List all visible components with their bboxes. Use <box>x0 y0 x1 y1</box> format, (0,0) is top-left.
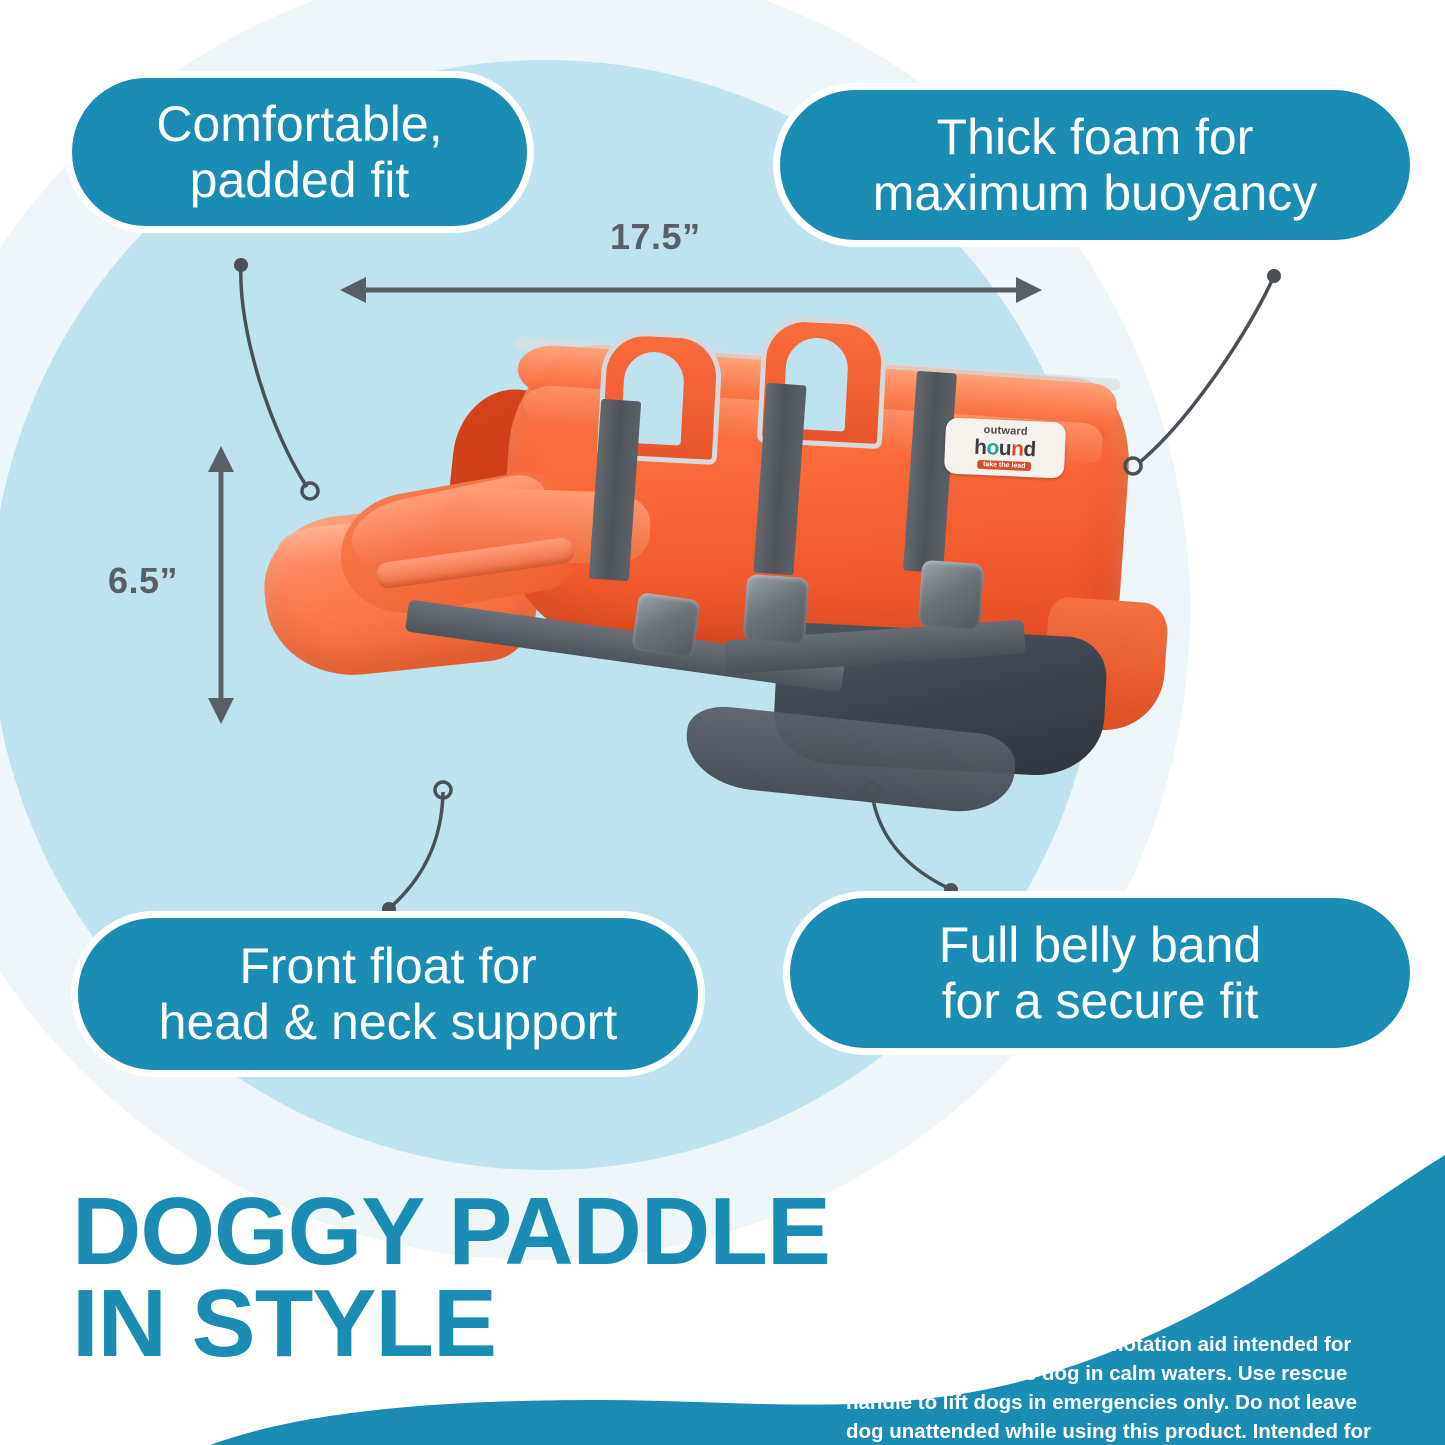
callout-comfort-line2: padded fit <box>156 152 442 208</box>
headline-line1: DOGGY PADDLE <box>72 1186 830 1278</box>
height-dimension-label: 6.5” <box>108 560 178 602</box>
headline-line2: IN STYLE <box>72 1278 830 1370</box>
brand-logo: outward hound take the lead <box>944 417 1066 478</box>
callout-foam-line2: maximum buoyancy <box>873 165 1318 221</box>
callout-belly-line2: for a secure fit <box>939 973 1261 1029</box>
callout-foam-line1: Thick foam for <box>873 109 1318 165</box>
callout-belly-line1: Full belly band <box>939 917 1261 973</box>
safety-and-care-text: SAFETY & CARE: This is a flotation aid i… <box>846 1330 1386 1445</box>
callout-front-line2: head & neck support <box>159 994 618 1050</box>
page-headline: DOGGY PADDLE IN STYLE <box>72 1186 830 1370</box>
callout-thick-foam-buoyancy: Thick foam for maximum buoyancy <box>780 90 1410 240</box>
callout-comfortable-padded-fit: Comfortable, padded fit <box>72 78 527 226</box>
brand-logo-main-word: hound <box>974 436 1036 460</box>
callout-front-float-support: Front float for head & neck support <box>78 918 698 1070</box>
brand-logo-tagline: take the lead <box>977 459 1032 471</box>
brand-letter-o: o <box>986 436 999 460</box>
side-release-buckle-1 <box>631 592 700 658</box>
side-release-buckle-2 <box>743 574 809 644</box>
brand-letter-h: h <box>974 435 987 459</box>
product-infographic: outward hound take the lead <box>0 0 1445 1445</box>
callout-front-line1: Front float for <box>159 938 618 994</box>
product-image-life-jacket: outward hound take the lead <box>255 300 1155 840</box>
brand-letter-d: d <box>1023 437 1036 461</box>
callout-full-belly-band: Full belly band for a secure fit <box>790 898 1410 1048</box>
width-dimension-label: 17.5” <box>610 216 701 258</box>
side-release-buckle-3 <box>918 560 984 630</box>
callout-comfort-line1: Comfortable, <box>156 96 442 152</box>
